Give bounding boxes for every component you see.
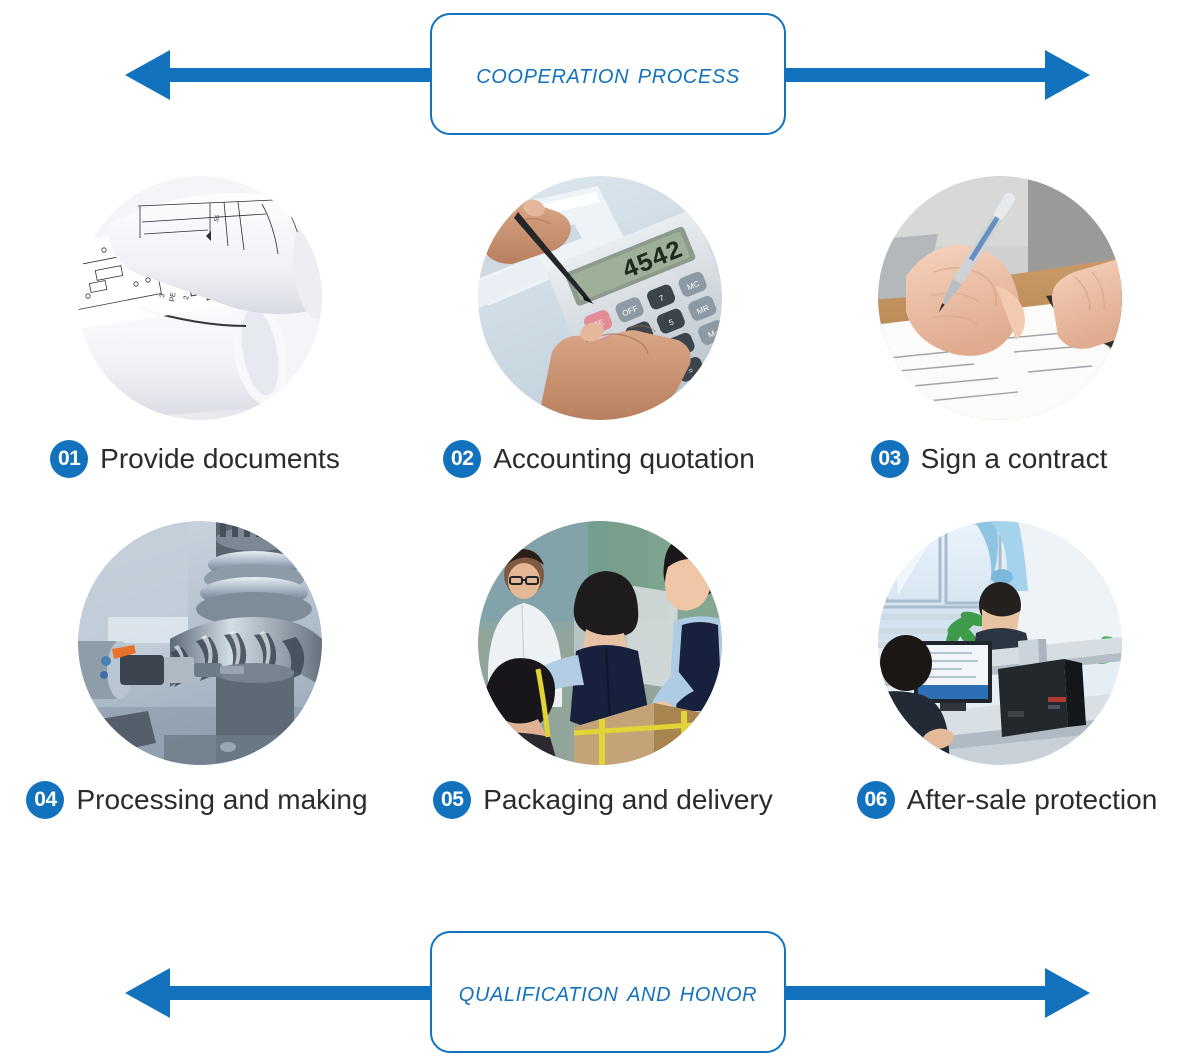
step-caption-03: 03 Sign a contract — [871, 440, 1108, 478]
cooperation-steps-grid: 60 W — [0, 176, 1200, 866]
step-label-01: Provide documents — [100, 443, 340, 475]
step-number-badge-05: 05 — [433, 781, 471, 819]
step-caption-05: 05 Packaging and delivery — [433, 781, 773, 819]
step-label-05: Packaging and delivery — [483, 784, 773, 816]
banner-qualification-and-honor: Qualification and honor — [0, 928, 1200, 1058]
step-number-badge-01: 01 — [50, 440, 88, 478]
step-label-06: After-sale protection — [907, 784, 1158, 816]
step-item-05[interactable]: 05 Packaging and delivery — [400, 521, 800, 866]
arrow-right-icon — [755, 50, 1090, 100]
step-image-calculator: 4542 — [478, 176, 722, 420]
step-image-cnc-machining — [78, 521, 322, 765]
step-item-04[interactable]: 04 Processing and making — [0, 521, 400, 866]
step-item-06[interactable]: 06 After-sale protection — [800, 521, 1200, 866]
step-label-02: Accounting quotation — [493, 443, 755, 475]
step-caption-01: 01 Provide documents — [50, 440, 340, 478]
step-image-packaging — [478, 521, 722, 765]
banner-cooperation-process: Cooperation process — [0, 10, 1200, 140]
banner-title-box-top: Cooperation process — [430, 13, 786, 135]
arrow-left-icon — [125, 50, 460, 100]
step-image-contract-signing — [878, 176, 1122, 420]
step-number-badge-04: 04 — [26, 781, 64, 819]
banner-title-box-bottom: Qualification and honor — [430, 931, 786, 1053]
step-number-badge-02: 02 — [443, 440, 481, 478]
step-item-03[interactable]: 03 Sign a contract — [800, 176, 1200, 521]
svg-text:+: + — [719, 353, 722, 363]
step-label-03: Sign a contract — [921, 443, 1108, 475]
arrow-left-icon — [125, 968, 460, 1018]
step-item-01[interactable]: 60 W — [0, 176, 400, 521]
step-image-office-support — [878, 521, 1122, 765]
step-caption-06: 06 After-sale protection — [857, 781, 1158, 819]
arrow-right-icon — [755, 968, 1090, 1018]
step-image-blueprints: 60 W — [78, 176, 322, 420]
step-caption-02: 02 Accounting quotation — [443, 440, 755, 478]
step-number-badge-03: 03 — [871, 440, 909, 478]
step-label-04: Processing and making — [76, 784, 367, 816]
banner-title-text-top: Cooperation process — [476, 58, 740, 91]
step-number-badge-06: 06 — [857, 781, 895, 819]
banner-title-text-bottom: Qualification and honor — [459, 976, 757, 1009]
step-item-02[interactable]: 4542 — [400, 176, 800, 521]
step-caption-04: 04 Processing and making — [26, 781, 367, 819]
